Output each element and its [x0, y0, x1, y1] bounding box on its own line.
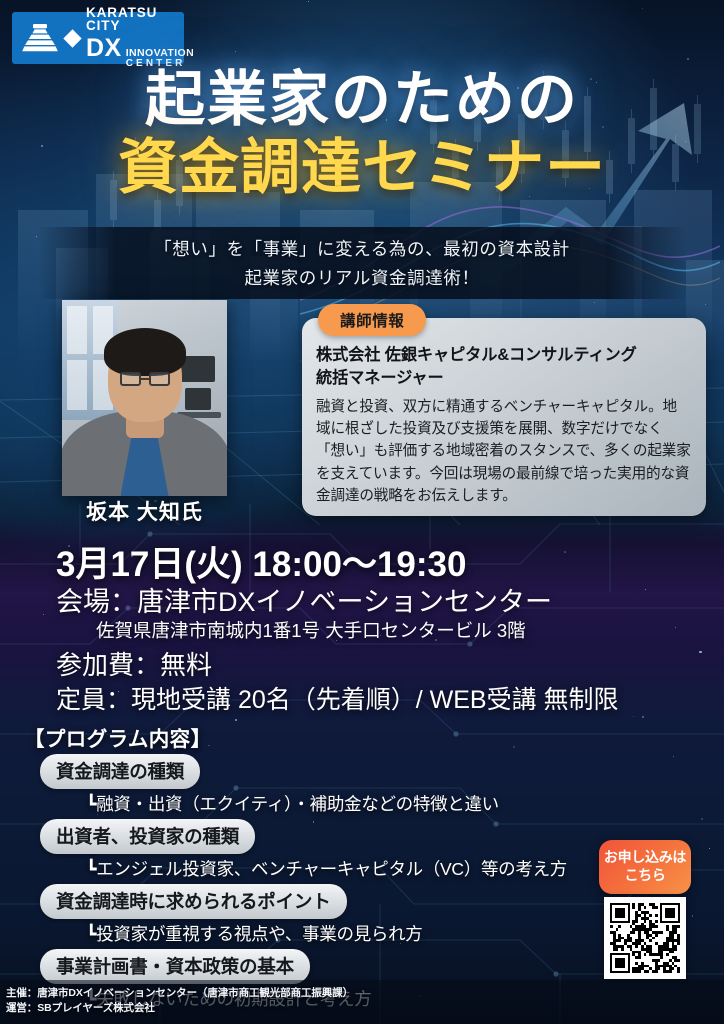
subtitle-line-1: 「想い」を「事業」に変える為の、最初の資本設計 — [154, 236, 570, 261]
castle-icon — [21, 22, 59, 54]
program-item-title: 出資者、投資家の種類 — [40, 819, 255, 854]
seminar-poster: KARATSU CITY DX INNOVATION CENTER 起業家のため… — [0, 0, 724, 1024]
event-fee: 参加費：無料 — [56, 645, 212, 682]
speaker-role: 統括マネージャー — [316, 367, 691, 390]
footer: 主催：唐津市DXイノベーションセンター（唐津市商工観光部商工振興課） 運営：SB… — [0, 980, 724, 1024]
program-list: 資金調達の種類 ┗融資・出資（エクイティ）・補助金などの特徴と違い 出資者、投資… — [40, 754, 620, 1014]
program-item-title: 資金調達の種類 — [40, 754, 200, 789]
program-item-detail: ┗投資家が重視する視点や、事業の見られ方 — [86, 921, 620, 946]
apply-button[interactable]: お申し込みは こちら — [599, 840, 691, 894]
list-item: 資金調達時に求められるポイント ┗投資家が重視する視点や、事業の見られ方 — [40, 884, 620, 946]
event-address: 佐賀県唐津市南城内1番1号 大手口センタービル 3階 — [96, 617, 526, 643]
program-item-detail: ┗融資・出資（エクイティ）・補助金などの特徴と違い — [86, 791, 620, 816]
status-badge: 講師情報 — [318, 304, 426, 336]
karatsu-dx-logo: KARATSU CITY DX INNOVATION CENTER — [12, 12, 184, 64]
speaker-name: 坂本 大知氏 — [62, 496, 227, 526]
poster-title: 起業家のための 資金調達セミナー — [0, 68, 724, 199]
diamond-icon — [63, 29, 81, 47]
speaker-info-card: 講師情報 株式会社 佐銀キャピタル&コンサルティング 統括マネージャー 融資と投… — [302, 318, 706, 516]
speaker-company: 株式会社 佐銀キャピタル&コンサルティング — [316, 344, 691, 367]
speaker-photo — [62, 300, 227, 496]
program-item-title: 資金調達時に求められるポイント — [40, 884, 347, 919]
qr-code[interactable] — [604, 897, 686, 979]
list-item: 出資者、投資家の種類 ┗エンジェル投資家、ベンチャーキャピタル（VC）等の考え方 — [40, 819, 620, 881]
program-heading: 【プログラム内容】 — [24, 722, 212, 752]
apply-button-line-2: こちら — [603, 866, 687, 884]
logo-dx-text: DX — [86, 36, 122, 61]
subtitle-band: 「想い」を「事業」に変える為の、最初の資本設計 起業家のリアル資金調達術！ — [38, 227, 686, 299]
list-item: 資金調達の種類 ┗融資・出資（エクイティ）・補助金などの特徴と違い — [40, 754, 620, 816]
program-item-detail: ┗エンジェル投資家、ベンチャーキャピタル（VC）等の考え方 — [86, 856, 620, 881]
speaker-bio: 融資と投資、双方に精通するベンチャーキャピタル。地域に根ざした投資及び支援策を展… — [316, 396, 691, 507]
event-capacity: 定員：現地受講 20名（先着順）/ WEB受講 無制限 — [56, 680, 619, 716]
event-venue: 会場：唐津市DXイノベーションセンター — [56, 580, 552, 619]
footer-operator: 運営：SBプレイヤーズ株式会社 — [6, 1001, 724, 1017]
footer-organizer: 主催：唐津市DXイノベーションセンター（唐津市商工観光部商工振興課） — [6, 986, 724, 1002]
title-line-2: 資金調達セミナー — [0, 136, 724, 200]
title-line-1: 起業家のための — [0, 68, 724, 132]
subtitle-line-2: 起業家のリアル資金調達術！ — [244, 265, 479, 290]
logo-city-line: KARATSU CITY — [86, 6, 194, 33]
apply-button-line-1: お申し込みは — [603, 848, 687, 866]
logo-innovation-text: INNOVATION — [126, 47, 194, 59]
